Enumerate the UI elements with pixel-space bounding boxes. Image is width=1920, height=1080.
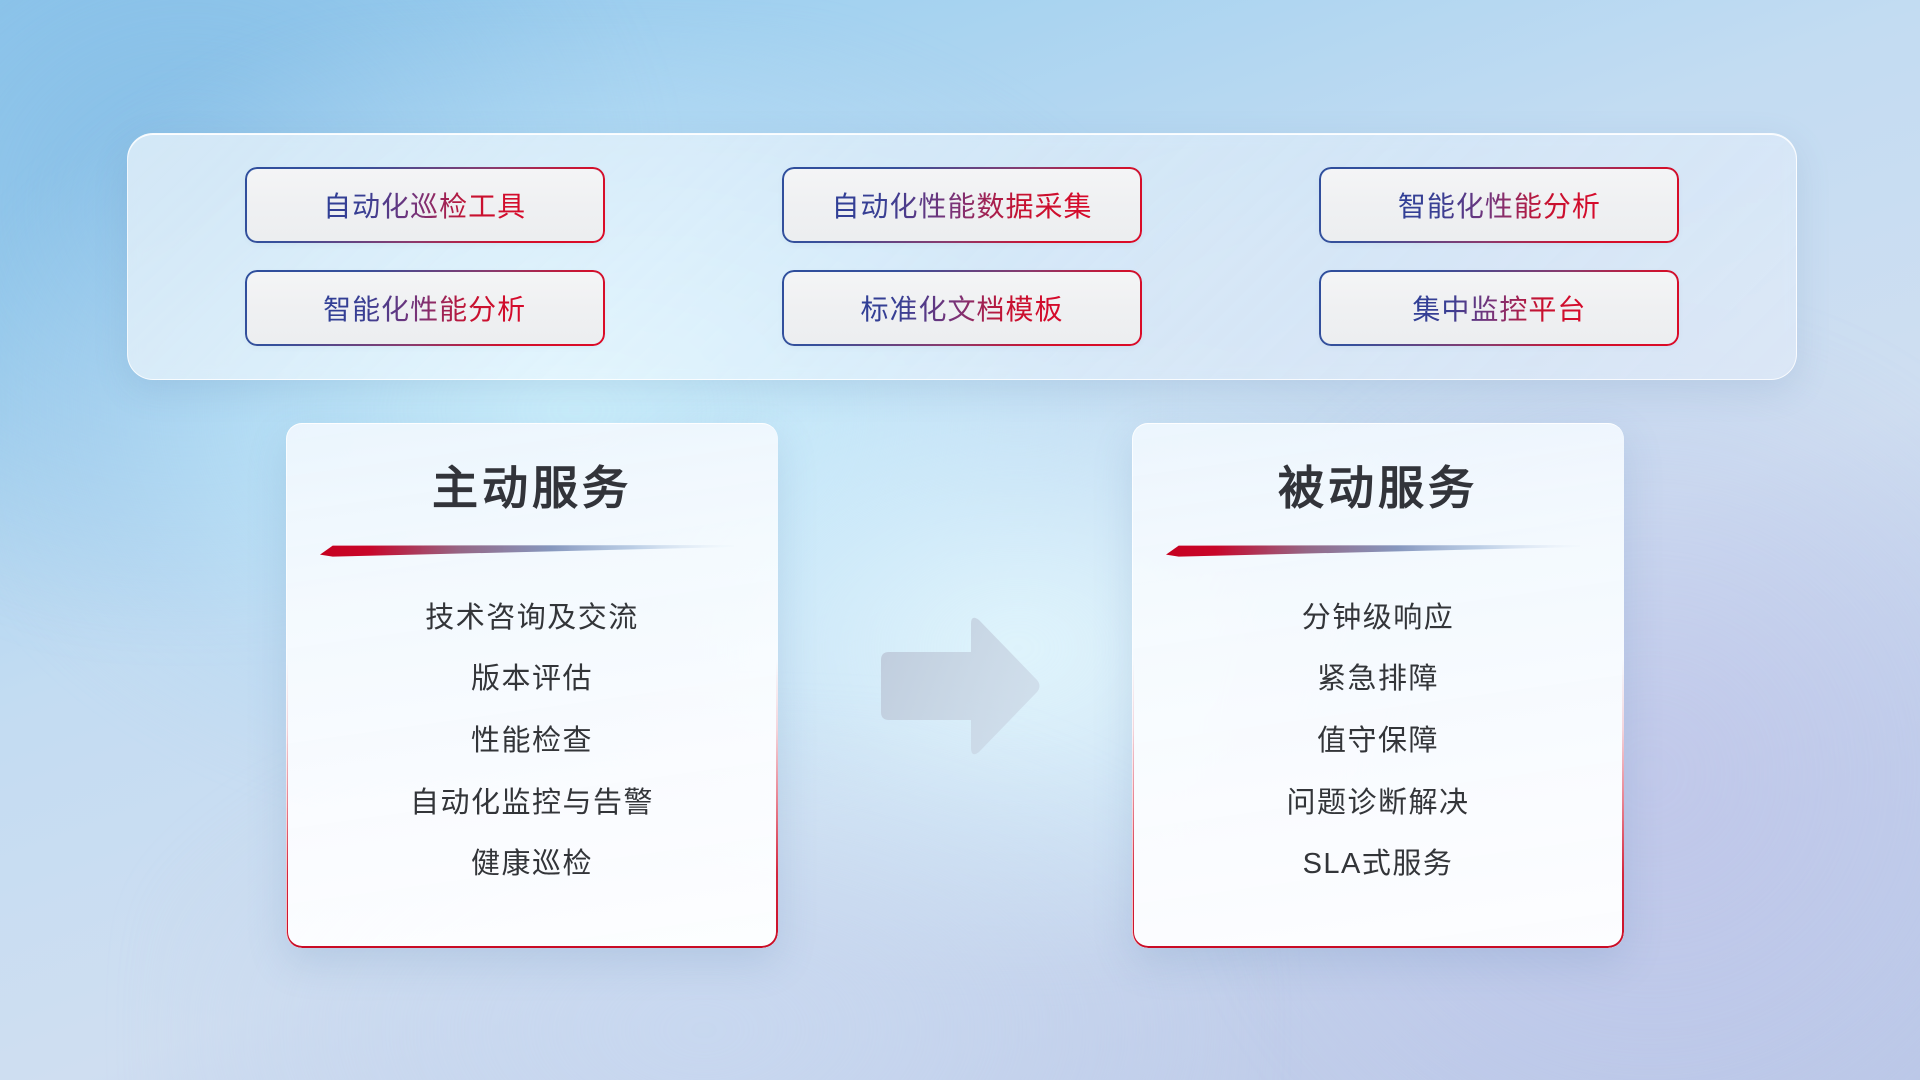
capability-chip-label: 自动化巡检工具 (323, 185, 526, 225)
service-card-proactive: 主动服务 技术咨询及交流 版本评估 (286, 423, 778, 948)
capability-chip[interactable]: 集中监控平台 (1321, 272, 1677, 344)
capability-chip-label: 集中监控平台 (1412, 288, 1586, 328)
card-item: 版本评估 (471, 665, 593, 694)
capability-chip[interactable]: 标准化文档模板 (784, 272, 1140, 344)
card-item: 健康巡检 (471, 850, 593, 879)
card-item: SLA式服务 (1303, 850, 1454, 879)
capability-chip[interactable]: 自动化巡检工具 (247, 169, 603, 241)
card-item-list: 分钟级响应 紧急排障 值守保障 问题诊断解决 SLA式服务 (1166, 557, 1590, 922)
card-title: 主动服务 (320, 461, 744, 516)
capability-chip-label: 标准化文档模板 (860, 288, 1063, 328)
card-title: 被动服务 (1166, 461, 1590, 516)
card-item: 技术咨询及交流 (425, 604, 639, 633)
card-divider-wedge (320, 543, 734, 557)
capability-chip-label: 智能化性能分析 (1398, 185, 1601, 225)
service-card-reactive: 被动服务 分钟级响应 紧急排障 (1132, 423, 1624, 948)
capability-chip[interactable]: 智能化性能分析 (1321, 169, 1677, 241)
card-item: 自动化监控与告警 (410, 789, 654, 818)
card-item: 性能检查 (471, 727, 593, 756)
card-item: 紧急排障 (1317, 665, 1439, 694)
card-item: 问题诊断解决 (1286, 789, 1469, 818)
card-item: 值守保障 (1317, 727, 1439, 756)
card-item-list: 技术咨询及交流 版本评估 性能检查 自动化监控与告警 健康巡检 (320, 557, 744, 922)
capability-chip[interactable]: 智能化性能分析 (247, 272, 603, 344)
capability-panel: 自动化巡检工具 自动化性能数据采集 智能化性能分析 智能化性能分析 标准化文档模… (127, 133, 1797, 380)
diagram-stage: 自动化巡检工具 自动化性能数据采集 智能化性能分析 智能化性能分析 标准化文档模… (0, 0, 1920, 1080)
capability-chip-label: 智能化性能分析 (323, 288, 526, 328)
card-divider-wedge (1166, 543, 1580, 557)
capability-chip-label: 自动化性能数据采集 (831, 185, 1092, 225)
card-item: 分钟级响应 (1302, 604, 1455, 633)
arrow-right-icon (873, 612, 1043, 762)
capability-chip[interactable]: 自动化性能数据采集 (784, 169, 1140, 241)
